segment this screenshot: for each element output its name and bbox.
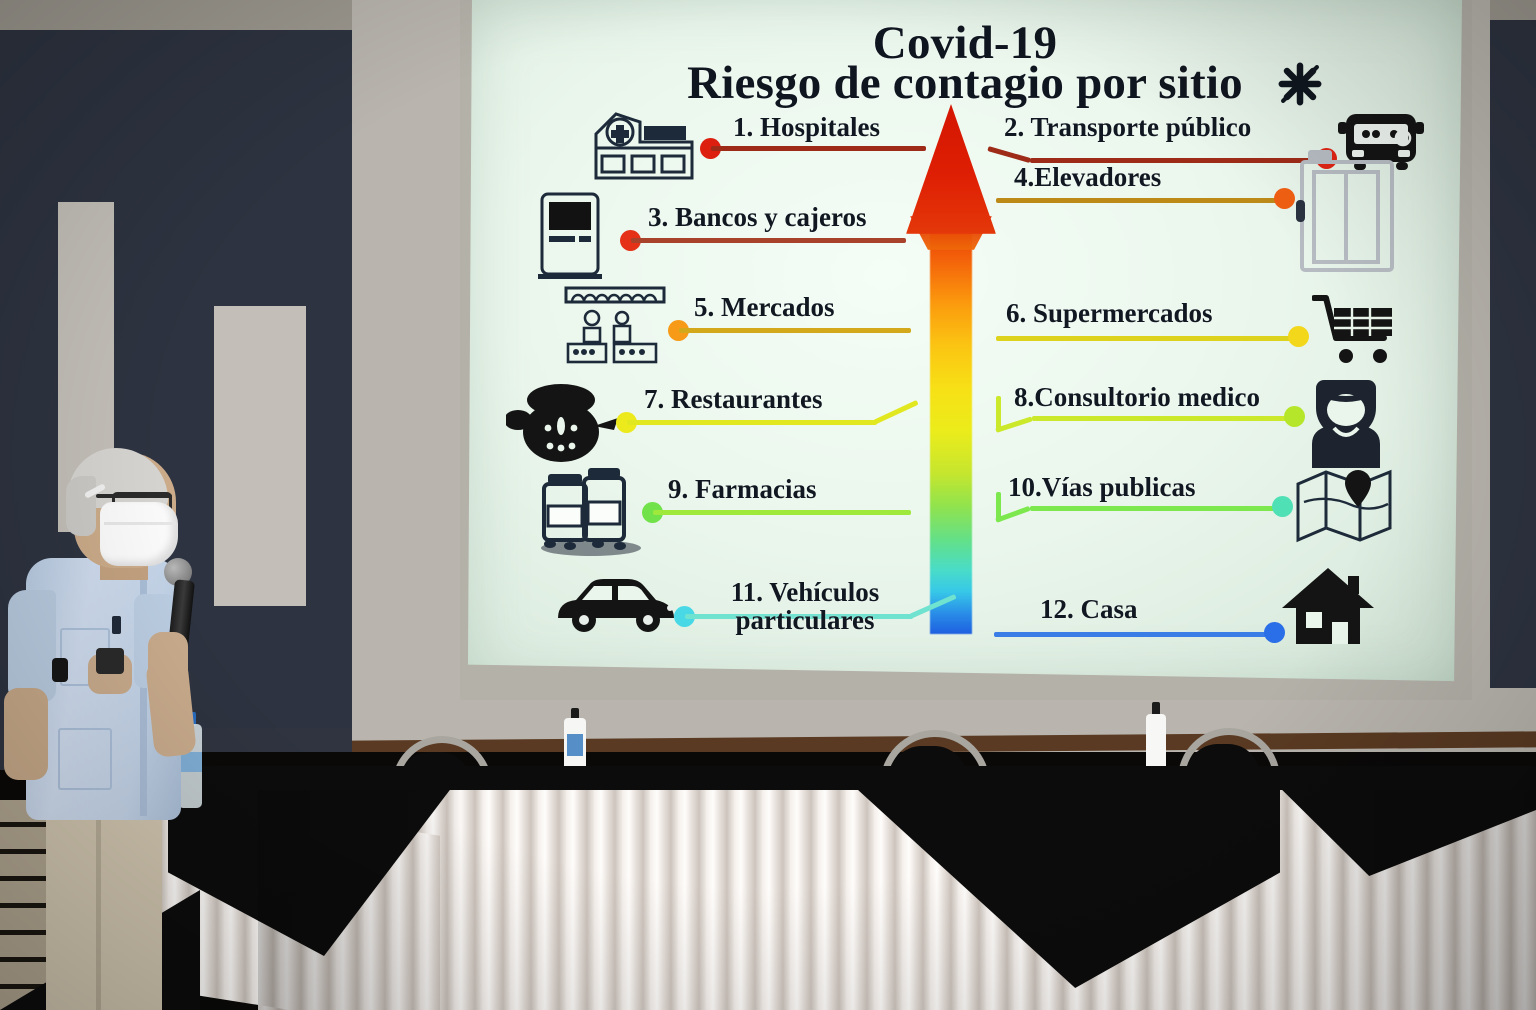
elevator-icon [1296, 148, 1398, 274]
doctor-icon [1300, 374, 1392, 468]
item-3-label: 3. Bancos y cajeros [648, 202, 866, 233]
wall-column-center [352, 0, 464, 760]
item-6-label: 6. Supermercados [1006, 298, 1213, 329]
item-5-label: 5. Mercados [694, 292, 834, 323]
presenter-clicker [96, 648, 124, 674]
item-1-line [711, 146, 926, 151]
market-stall-icon [560, 282, 670, 368]
item-3-line [631, 238, 906, 243]
presenter-watch [52, 658, 68, 682]
item-10-label: 10.Vías publicas [1008, 472, 1196, 503]
item-10-dot [1272, 496, 1293, 517]
item-7-label: 7. Restaurantes [644, 384, 822, 415]
item-4-label: 4.Elevadores [1014, 162, 1161, 193]
presenter-trousers [46, 800, 162, 1010]
ceiling-edge-right [1490, 0, 1536, 20]
projector-screen: Covid-19 Riesgo de contagio por sitio [468, 0, 1462, 688]
ceiling-edge [0, 0, 372, 30]
presenter-trouser-crease [96, 802, 101, 1010]
n95-mask-icon [100, 502, 178, 566]
arrow-shaft [930, 210, 972, 634]
item-7-line [627, 420, 877, 425]
item-9-line [653, 510, 911, 515]
item-2-label: 2. Transporte público [1004, 112, 1251, 143]
shopping-cart-icon [1312, 292, 1400, 368]
presenter-right-hand [148, 632, 188, 690]
item-8-label: 8.Consultorio medico [1014, 382, 1260, 413]
item-6-dot [1288, 326, 1309, 347]
atm-icon [536, 190, 604, 280]
screenshot-root: Covid-19 Riesgo de contagio por sitio [0, 0, 1536, 1010]
hand-sanitizer-bottle-2 [1146, 702, 1166, 772]
wall-panel-dark-right [1490, 18, 1536, 760]
item-1-label: 1. Hospitales [733, 112, 880, 143]
item-4-dot [1274, 188, 1295, 209]
presenter-sideburn [66, 476, 96, 536]
item-5-line [679, 328, 911, 333]
presenter [0, 430, 260, 1010]
mask-fold [104, 522, 176, 525]
car-icon [550, 574, 680, 636]
presentation-slide: Covid-19 Riesgo de contagio por sitio [468, 0, 1462, 688]
presenter-shirt-pocket-bottom [58, 728, 112, 790]
virus-crossed-out-icon [1274, 58, 1326, 110]
item-11-label: 11. Vehículos particulares [700, 578, 910, 635]
risk-level-arrow [906, 104, 996, 634]
map-pin-icon [1294, 466, 1394, 548]
presenter-left-sleeve [8, 590, 56, 702]
medicine-bottles-icon [536, 462, 646, 558]
item-6-line [996, 336, 1296, 341]
chef-icon [506, 378, 624, 466]
item-4-line [996, 198, 1282, 203]
presenter-left-forearm [4, 688, 48, 780]
hospital-icon [588, 108, 700, 184]
item-12-line [994, 632, 1272, 637]
item-12-label: 12. Casa [1040, 594, 1138, 625]
item-8-line [1032, 416, 1292, 421]
house-icon [1280, 566, 1376, 646]
item-9-label: 9. Farmacias [668, 474, 816, 505]
item-10-line [1030, 506, 1280, 511]
presenter-pen [112, 616, 121, 634]
arrow-head [906, 104, 996, 234]
